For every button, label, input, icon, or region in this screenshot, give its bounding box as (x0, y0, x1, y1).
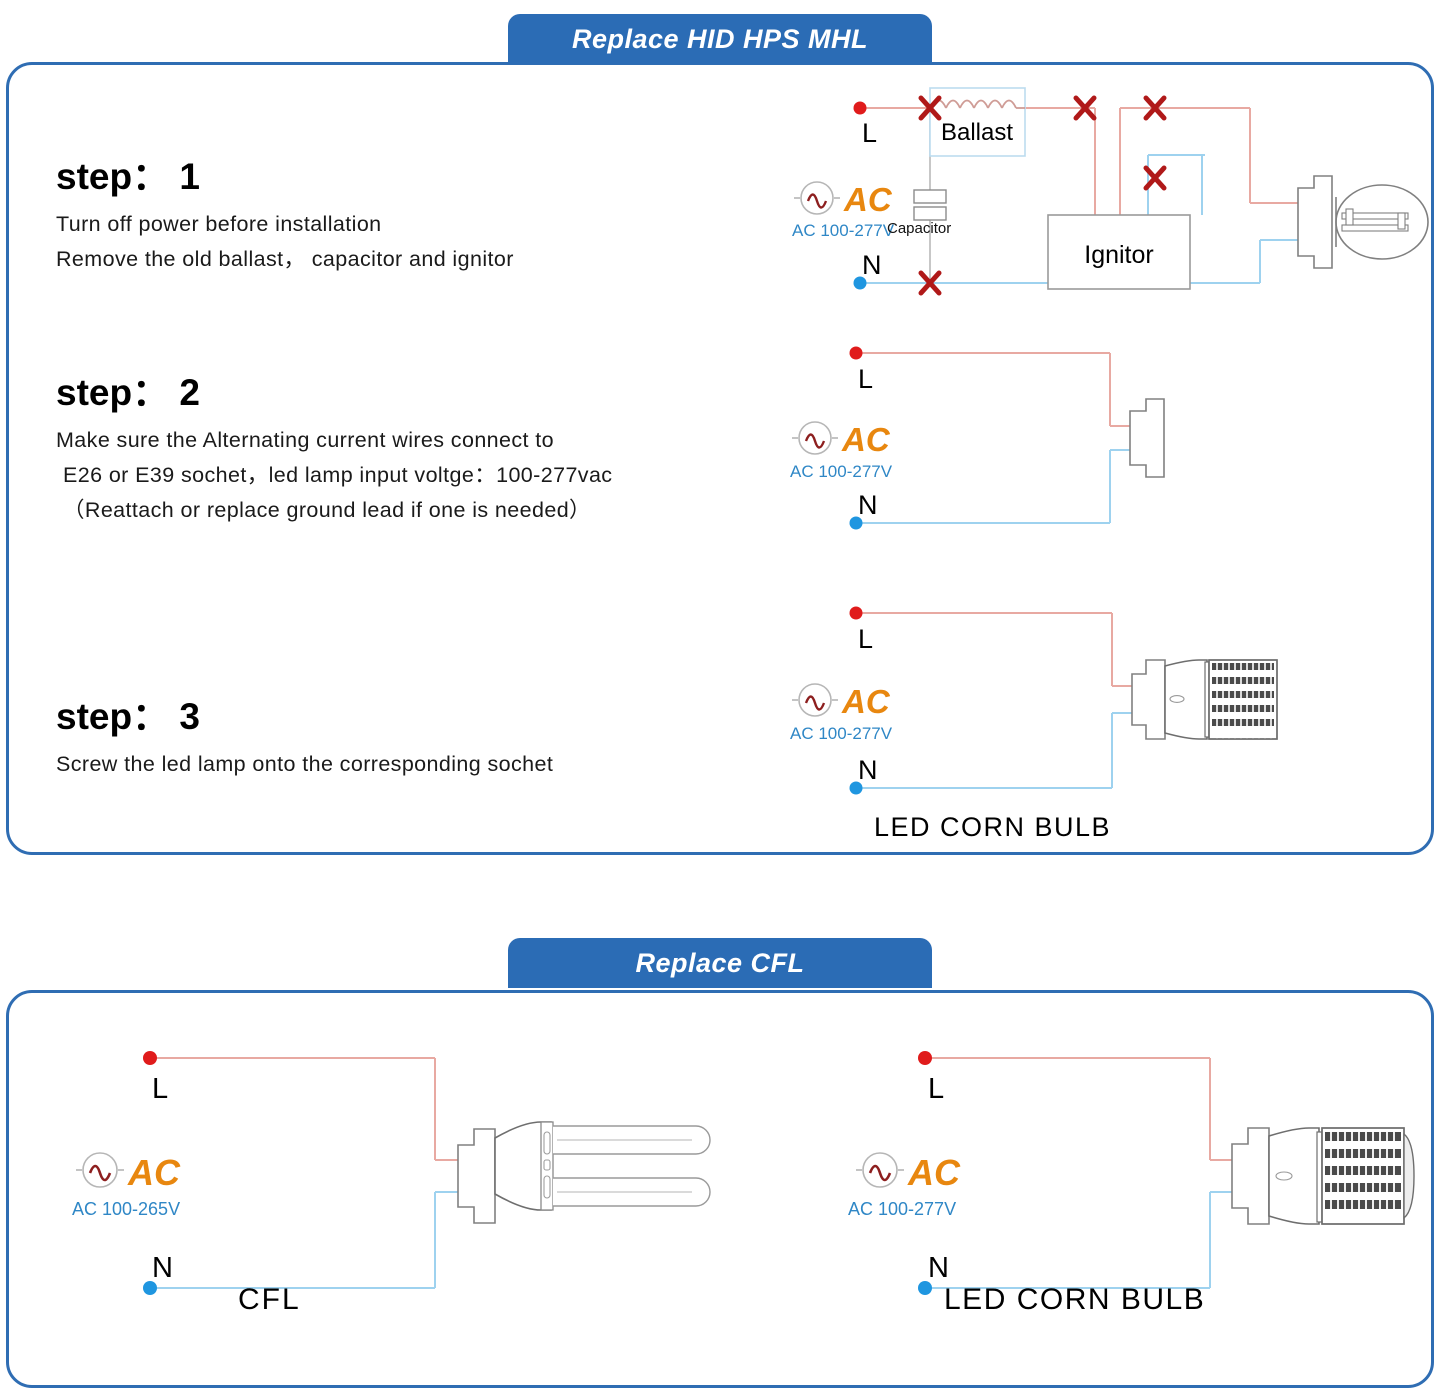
banner-replace-cfl: Replace CFL (508, 938, 932, 988)
cfl-bulb-icon (458, 1122, 710, 1223)
ac-source-icon (856, 1153, 904, 1187)
ac-label: AC (843, 181, 893, 218)
led-corn-bulb-caption-step3: LED CORN BULB (874, 812, 1111, 843)
step-1-line-1: Turn off power before installation (56, 207, 514, 242)
live-label: L (858, 364, 873, 394)
ac-label: AC (841, 683, 891, 720)
diagram-step-2: AC AC 100-277V L N (790, 338, 1210, 538)
ballast-label: Ballast (941, 119, 1013, 146)
step-3-block: step： 3 Screw the led lamp onto the corr… (56, 698, 553, 782)
diagram-cfl-left: AC AC 100-265V L N (60, 1040, 750, 1320)
ac-label: AC (841, 421, 891, 458)
neutral-label: N (858, 490, 878, 520)
live-terminal-dot (854, 102, 867, 115)
diagram-step-1: Ballast Ignitor AC AC 100-277V L N (790, 85, 1430, 300)
capacitor-label: Capacitor (887, 220, 951, 237)
diagram-cfl-right: AC AC 100-277V L N (840, 1040, 1420, 1320)
ac-label: AC (907, 1152, 961, 1193)
ignitor-label: Ignitor (1084, 241, 1153, 269)
neutral-label: N (928, 1252, 949, 1284)
step-2-line-2: E26 or E39 sochet，led lamp input voltge：… (56, 458, 612, 493)
voltage-label: AC 100-277V (790, 462, 893, 481)
led-corn-bulb-icon (1132, 660, 1277, 739)
led-corn-bulb-icon (1232, 1128, 1414, 1224)
live-label: L (928, 1073, 944, 1105)
step-1-block: step： 1 Turn off power before installati… (56, 158, 514, 277)
ac-source-icon (794, 182, 840, 214)
voltage-label: AC 100-265V (72, 1199, 180, 1219)
ac-source-icon (76, 1153, 124, 1187)
voltage-label: AC 100-277V (792, 221, 895, 240)
step-2-title: step： 2 (56, 374, 612, 413)
neutral-label: N (152, 1252, 173, 1284)
live-terminal-dot (850, 607, 863, 620)
voltage-label: AC 100-277V (848, 1199, 956, 1219)
neutral-label: N (858, 755, 878, 785)
live-terminal-dot (918, 1051, 932, 1065)
live-label: L (152, 1073, 168, 1105)
step-3-title: step： 3 (56, 698, 553, 737)
voltage-label: AC 100-277V (790, 724, 893, 743)
live-label: L (858, 624, 873, 654)
live-terminal-dot (143, 1051, 157, 1065)
ac-label: AC (127, 1152, 181, 1193)
ac-source-icon (792, 684, 838, 716)
diagram-step-3: AC AC 100-277V L N (790, 598, 1210, 803)
led-corn-bulb-caption-bottom: LED CORN BULB (944, 1283, 1205, 1317)
live-terminal-dot (850, 347, 863, 360)
step-3-line-1: Screw the led lamp onto the correspondin… (56, 747, 553, 782)
cfl-caption: CFL (238, 1283, 301, 1317)
neutral-label: N (862, 250, 882, 280)
step-2-line-1: Make sure the Alternating current wires … (56, 423, 612, 458)
banner-replace-hid: Replace HID HPS MHL (508, 14, 932, 64)
capacitor-symbol (914, 190, 946, 220)
hid-lamp-icon (1298, 176, 1428, 268)
lamp-socket-icon (1130, 399, 1164, 477)
step-1-title: step： 1 (56, 158, 514, 197)
step-1-line-2: Remove the old ballast， capacitor and ig… (56, 242, 514, 277)
ac-source-icon (792, 422, 838, 454)
step-2-line-3: （Reattach or replace ground lead if one … (56, 493, 612, 528)
live-label: L (862, 118, 877, 148)
step-2-block: step： 2 Make sure the Alternating curren… (56, 374, 612, 527)
